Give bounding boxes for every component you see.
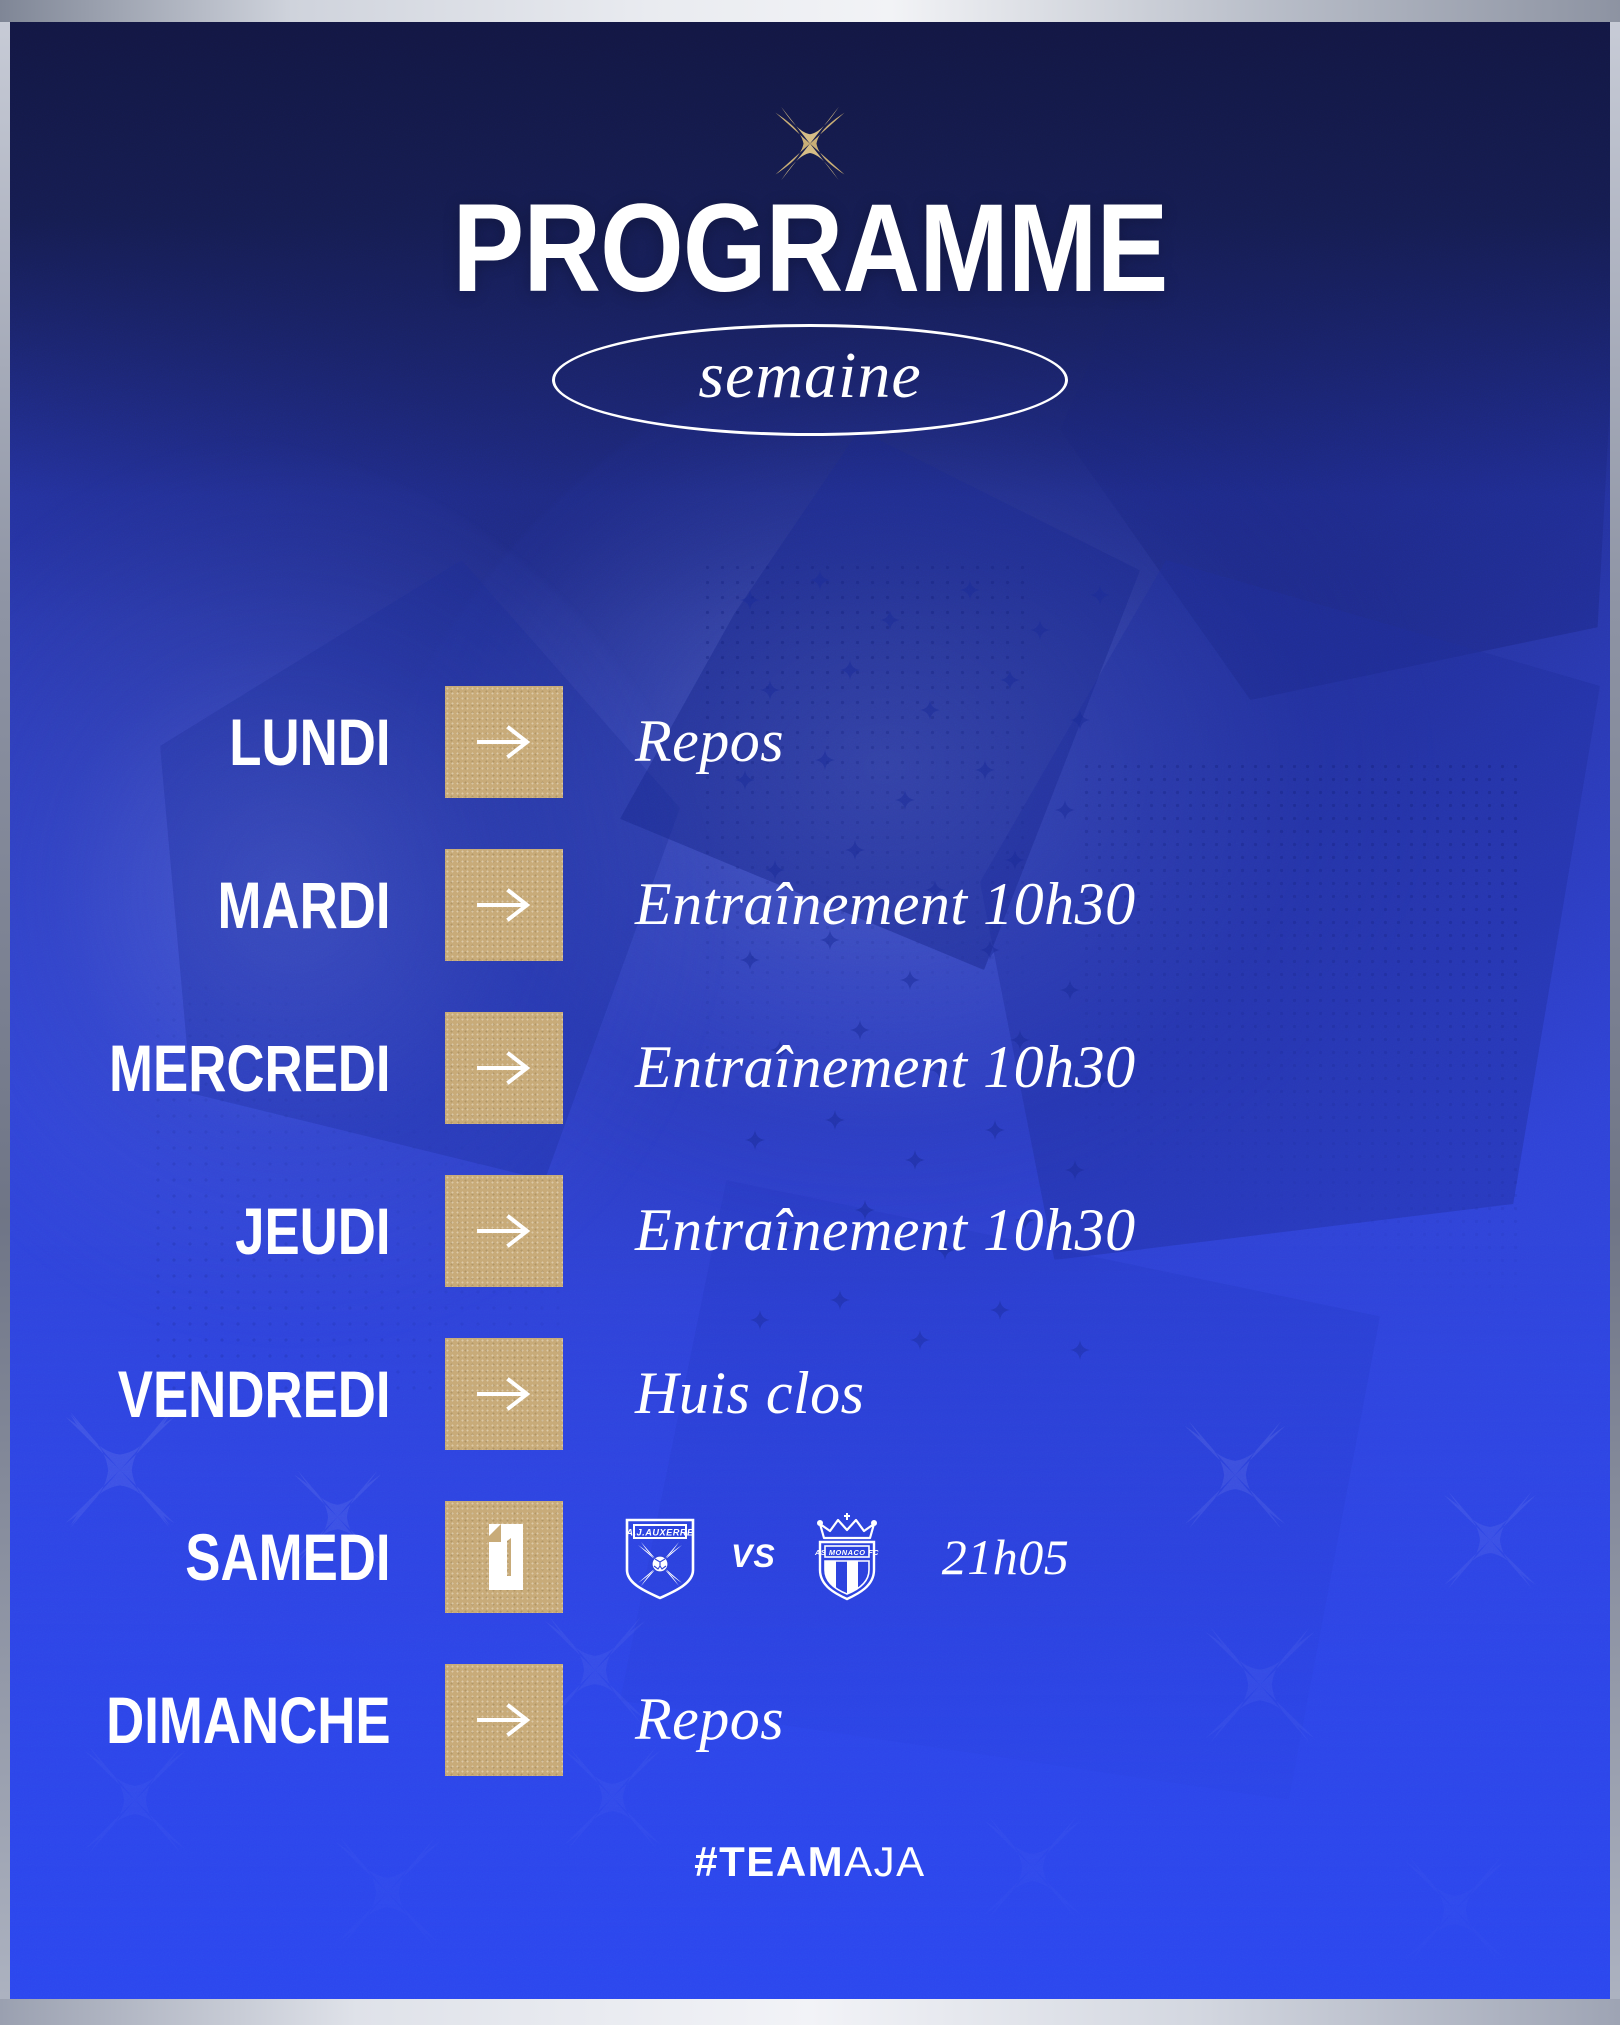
arrow-badge	[445, 1012, 563, 1124]
as-monaco-crest-icon: AS MONACO FC	[808, 1512, 886, 1602]
schedule-row-lundi: LUNDI Repos	[0, 660, 1620, 823]
day-label: LUNDI	[89, 709, 445, 775]
hashtag-light: AJA	[844, 1838, 926, 1885]
as-monaco-crest-text: AS MONACO FC	[814, 1547, 879, 1556]
hashtag-bold: #TEAM	[694, 1838, 844, 1885]
arrow-right-icon	[475, 1374, 533, 1414]
schedule-row-mardi: MARDI Entraînement 10h30	[0, 823, 1620, 986]
arrow-right-icon	[475, 722, 533, 762]
schedule-row-dimanche: DIMANCHE Repos	[0, 1638, 1620, 1801]
page-title: PROGRAMME	[113, 186, 1506, 311]
aj-auxerre-crest-text: A.J.AUXERRE	[625, 1527, 694, 1537]
kickoff-time: 21h05	[942, 1528, 1070, 1586]
activity-label: Entraînement 10h30	[563, 870, 1136, 939]
arrow-right-icon	[475, 885, 533, 925]
arrow-badge	[445, 1175, 563, 1287]
arrow-right-icon	[475, 1211, 533, 1251]
arrow-badge	[445, 686, 563, 798]
page-subtitle: semaine	[698, 338, 921, 414]
day-label: MERCREDI	[89, 1035, 445, 1101]
arrow-right-icon	[475, 1700, 533, 1740]
subtitle-oval: semaine	[552, 324, 1068, 436]
day-label: DIMANCHE	[89, 1687, 445, 1753]
day-label: SAMEDI	[89, 1524, 445, 1590]
maltese-cross-icon	[774, 104, 846, 178]
schedule-row-mercredi: MERCREDI Entraînement 10h30	[0, 986, 1620, 1149]
activity-label: Entraînement 10h30	[563, 1196, 1136, 1265]
activity-label: Repos	[563, 1685, 784, 1754]
ligue1-logo-icon	[477, 1520, 531, 1594]
match-fixture: A.J.AUXERRE VS	[563, 1512, 1069, 1602]
arrow-badge	[445, 1664, 563, 1776]
activity-label: Huis clos	[563, 1359, 865, 1428]
ligue1-badge	[445, 1501, 563, 1613]
day-label: JEUDI	[89, 1198, 445, 1264]
frame-edge-right	[1610, 0, 1620, 2025]
arrow-badge	[445, 1338, 563, 1450]
day-label: MARDI	[89, 872, 445, 938]
schedule-row-vendredi: VENDREDI Huis clos	[0, 1312, 1620, 1475]
activity-label: Repos	[563, 707, 784, 776]
arrow-right-icon	[475, 1048, 533, 1088]
hashtag-footer: #TEAMAJA	[0, 1838, 1620, 1886]
aj-auxerre-crest-icon: A.J.AUXERRE	[621, 1514, 699, 1600]
arrow-badge	[445, 849, 563, 961]
day-label: VENDREDI	[89, 1361, 445, 1427]
frame-edge-top	[0, 0, 1620, 22]
schedule-row-jeudi: JEUDI Entraînement 10h30	[0, 1149, 1620, 1312]
versus-label: VS	[731, 1538, 776, 1575]
activity-label: Entraînement 10h30	[563, 1033, 1136, 1102]
schedule-list: LUNDI Repos MARDI Entr	[0, 660, 1620, 1801]
frame-edge-left	[0, 0, 10, 2025]
schedule-row-samedi: SAMEDI A.J.AUXERRE	[0, 1475, 1620, 1638]
programme-poster: PROGRAMME semaine LUNDI Repos MARDI	[0, 0, 1620, 2025]
frame-edge-bottom	[0, 1999, 1620, 2025]
